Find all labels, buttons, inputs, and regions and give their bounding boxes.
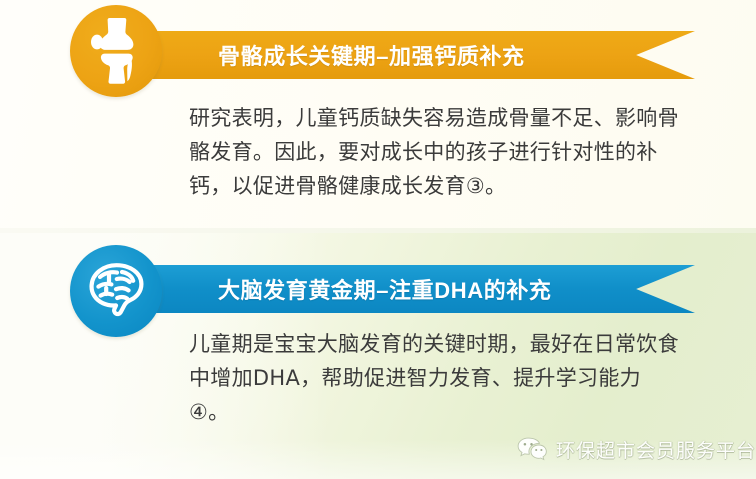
body-text-brain-development: 儿童期是宝宝大脑发育的关键时期，最好在日常饮食中增加DHA，帮助促进智力发育、提… bbox=[189, 327, 679, 429]
brain-icon bbox=[83, 260, 149, 322]
wechat-icon bbox=[517, 437, 547, 462]
body-text-bone-growth: 研究表明，儿童钙质缺失容易造成骨量不足、影响骨骼发育。因此，要对成长中的孩子进行… bbox=[189, 101, 679, 203]
infographic-page: 骨骼成长关键期–加强钙质补充 研究表明，儿童钙质缺失容易造成骨量不足、影响骨骼发… bbox=[0, 0, 756, 479]
banner-title-brain-development: 大脑发育黄金期–注重DHA的补充 bbox=[218, 273, 552, 305]
knee-joint-bone-icon bbox=[89, 16, 143, 86]
icon-circle-bone bbox=[70, 5, 162, 97]
icon-circle-brain bbox=[70, 245, 162, 337]
paragraph-brain-development: 儿童期是宝宝大脑发育的关键时期，最好在日常饮食中增加DHA，帮助促进智力发育、提… bbox=[189, 327, 679, 429]
watermark-text: 环保超市会员服务平台 bbox=[556, 436, 756, 463]
paragraph-bone-growth: 研究表明，儿童钙质缺失容易造成骨量不足、影响骨骼发育。因此，要对成长中的孩子进行… bbox=[189, 101, 679, 203]
banner-title-bone-growth: 骨骼成长关键期–加强钙质补充 bbox=[218, 39, 525, 71]
watermark: 环保超市会员服务平台 bbox=[517, 436, 756, 463]
banner-brain-development: 大脑发育黄金期–注重DHA的补充 bbox=[118, 265, 695, 313]
banner-bone-growth: 骨骼成长关键期–加强钙质补充 bbox=[118, 31, 695, 79]
